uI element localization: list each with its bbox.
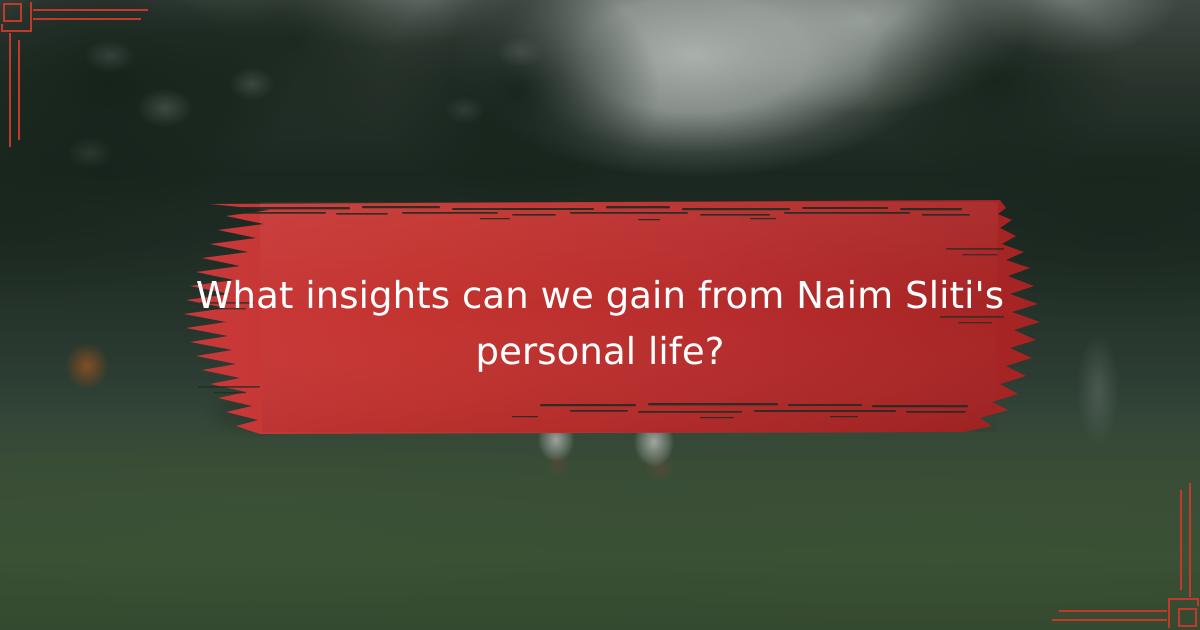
social-card: What insights can we gain from Naim Slit… — [0, 0, 1200, 630]
corner-frame-bottom-right — [1040, 470, 1200, 630]
headline-text: What insights can we gain from Naim Slit… — [150, 268, 1050, 380]
corner-frame-top-left — [0, 0, 160, 160]
